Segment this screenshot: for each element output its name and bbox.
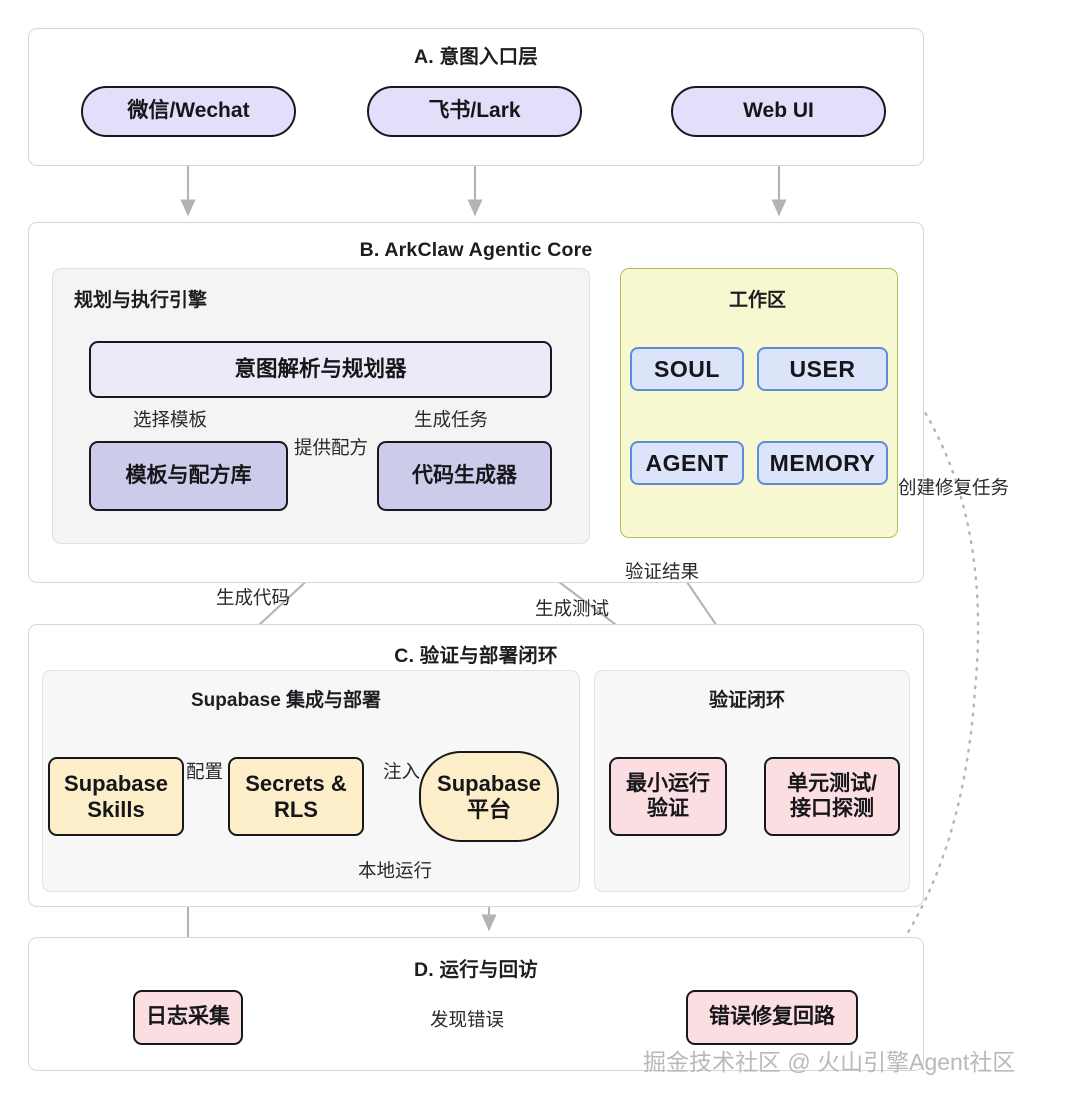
node-wechat[interactable]: 微信/Wechat xyxy=(81,86,296,137)
node-lark[interactable]: 飞书/Lark xyxy=(367,86,582,137)
label-provide-recipe: 提供配方 xyxy=(294,434,368,460)
node-supabase-platform[interactable]: Supabase 平台 xyxy=(419,751,559,842)
layer-d-title: D. 运行与回访 xyxy=(28,953,924,982)
node-unit-test-api-probe[interactable]: 单元测试/ 接口探测 xyxy=(764,757,900,836)
watermark: 掘金技术社区 @ 火山引擎Agent社区 xyxy=(643,1043,1015,1077)
layer-c-title: C. 验证与部署闭环 xyxy=(28,639,924,668)
label-validation-result: 验证结果 xyxy=(625,558,699,584)
label-select-template: 选择模板 xyxy=(133,406,207,432)
subpanel-workspace-title: 工作区 xyxy=(729,285,786,312)
layer-b-title: B. ArkClaw Agentic Core xyxy=(28,239,924,262)
node-user[interactable]: USER xyxy=(757,347,888,391)
label-inject: 注入 xyxy=(383,758,420,784)
label-generate-task: 生成任务 xyxy=(414,406,488,432)
node-template-recipe-library[interactable]: 模板与配方库 xyxy=(89,441,288,511)
node-code-generator[interactable]: 代码生成器 xyxy=(377,441,552,511)
node-soul[interactable]: SOUL xyxy=(630,347,744,391)
label-discover-error: 发现错误 xyxy=(422,1006,512,1032)
node-error-repair-loop[interactable]: 错误修复回路 xyxy=(686,990,858,1045)
label-local-run: 本地运行 xyxy=(353,857,437,883)
node-web-ui[interactable]: Web UI xyxy=(671,86,886,137)
label-create-repair-task: 创建修复任务 xyxy=(898,474,1009,500)
diagram-canvas: A. 意图入口层 微信/Wechat 飞书/Lark Web UI B. Ark… xyxy=(0,0,1080,1099)
label-configure: 配置 xyxy=(186,758,223,784)
node-agent[interactable]: AGENT xyxy=(630,441,744,485)
label-generate-code: 生成代码 xyxy=(216,584,290,610)
node-secrets-rls[interactable]: Secrets & RLS xyxy=(228,757,364,836)
node-minimal-run-validation[interactable]: 最小运行 验证 xyxy=(609,757,727,836)
subpanel-supabase-title: Supabase 集成与部署 xyxy=(191,685,381,712)
node-supabase-skills[interactable]: Supabase Skills xyxy=(48,757,184,836)
node-intent-planner[interactable]: 意图解析与规划器 xyxy=(89,341,552,398)
layer-a-title: A. 意图入口层 xyxy=(28,40,924,69)
label-generate-test: 生成测试 xyxy=(535,595,609,621)
subpanel-planning-engine-title: 规划与执行引擎 xyxy=(74,285,207,312)
subpanel-validation-loop-title: 验证闭环 xyxy=(709,685,785,712)
node-memory[interactable]: MEMORY xyxy=(757,441,888,485)
node-log-collection[interactable]: 日志采集 xyxy=(133,990,243,1045)
